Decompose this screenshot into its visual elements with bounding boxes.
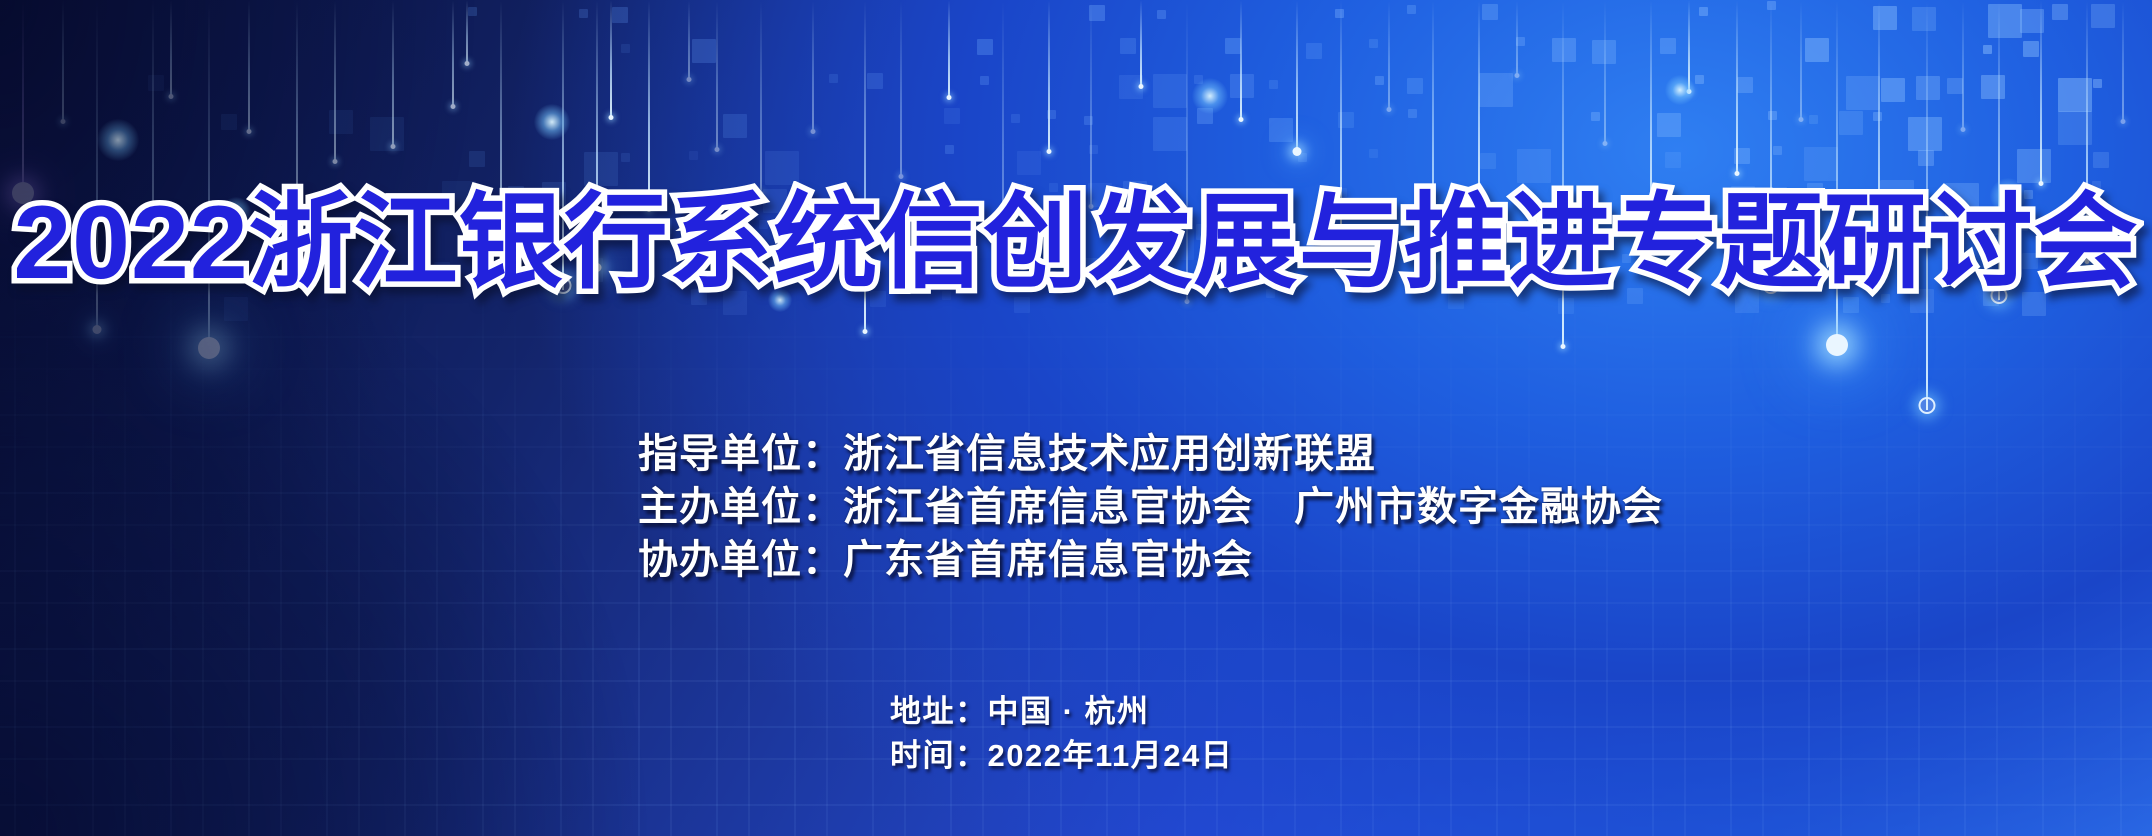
page-title: 2022浙江银行系统信创发展与推进专题研讨会 [0, 186, 2152, 300]
organizers-block: 指导单位：浙江省信息技术应用创新联盟 主办单位：浙江省首席信息官协会 广州市数字… [638, 428, 1663, 586]
banner-content: 2022浙江银行系统信创发展与推进专题研讨会 指导单位：浙江省信息技术应用创新联… [0, 0, 2152, 836]
event-date: 时间：2022年11月24日 [890, 734, 1233, 778]
event-location: 地址：中国 · 杭州 [890, 690, 1233, 734]
conference-banner: 2022浙江银行系统信创发展与推进专题研讨会 指导单位：浙江省信息技术应用创新联… [0, 0, 2152, 836]
event-meta-block: 地址：中国 · 杭州 时间：2022年11月24日 [890, 690, 1233, 778]
organizer-line-host: 主办单位：浙江省首席信息官协会 广州市数字金融协会 [638, 481, 1663, 534]
organizer-line-coorganizer: 协办单位：广东省首席信息官协会 [638, 534, 1663, 587]
organizer-line-guidance: 指导单位：浙江省信息技术应用创新联盟 [638, 428, 1663, 481]
